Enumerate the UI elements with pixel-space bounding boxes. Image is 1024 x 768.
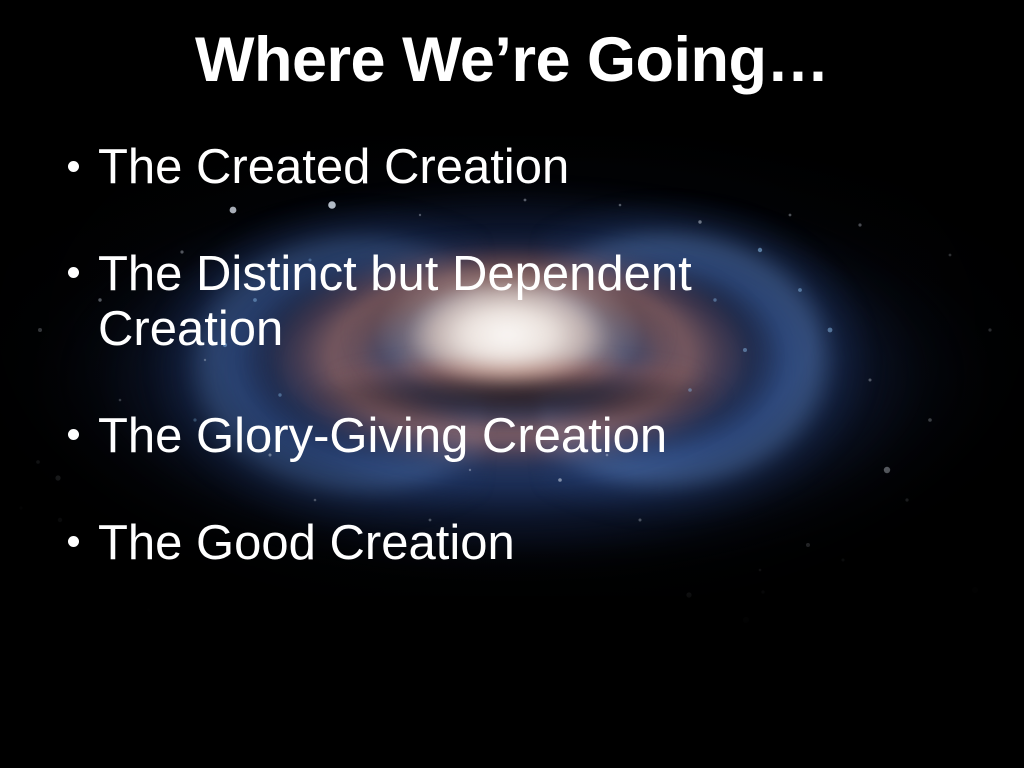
slide-content: Where We’re Going… The Created Creation … <box>0 0 1024 768</box>
presentation-slide: Where We’re Going… The Created Creation … <box>0 0 1024 768</box>
bullet-dot-icon <box>68 536 79 547</box>
bullet-item-label: The Good Creation <box>98 516 515 570</box>
bullet-item: The Glory-Giving Creation <box>60 409 960 464</box>
bullet-item: The Good Creation <box>60 516 960 571</box>
bullet-dot-icon <box>68 429 79 440</box>
bullet-item: The Distinct but Dependent Creation <box>60 247 960 357</box>
bullet-dot-icon <box>68 161 79 172</box>
bullet-item-label: The Created Creation <box>98 140 569 194</box>
bullet-item-label: The Distinct but Dependent Creation <box>98 247 888 357</box>
bullet-item: The Created Creation <box>60 140 960 195</box>
bullet-list: The Created Creation The Distinct but De… <box>60 140 960 622</box>
slide-title: Where We’re Going… <box>0 24 1024 96</box>
bullet-dot-icon <box>68 267 79 278</box>
bullet-item-label: The Glory-Giving Creation <box>98 409 667 463</box>
